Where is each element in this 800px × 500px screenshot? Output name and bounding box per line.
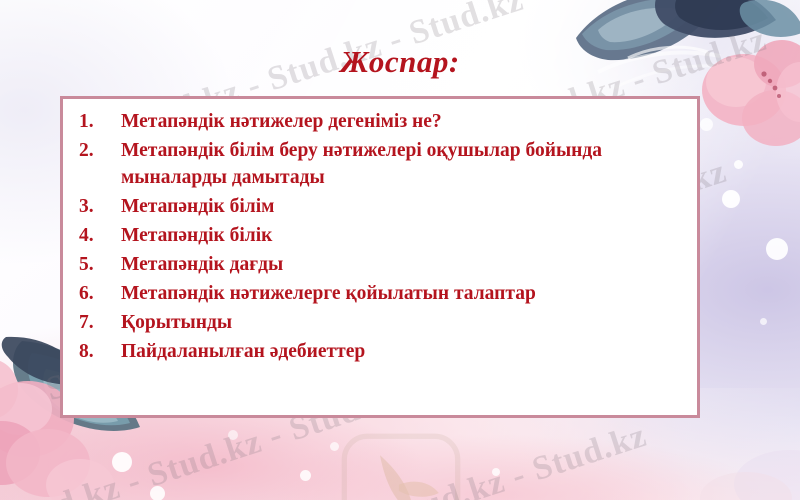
agenda-item-number: 8. xyxy=(75,338,121,365)
agenda-item-text: Метапәндік білім xyxy=(121,193,687,220)
agenda-content-box: 1.Метапәндік нәтижелер дегеніміз не?2.Ме… xyxy=(60,96,700,418)
agenda-item-number: 6. xyxy=(75,280,121,307)
agenda-item-text: Пайдаланылған әдебиеттер xyxy=(121,338,687,365)
agenda-item: 6.Метапәндік нәтижелерге қойылатын талап… xyxy=(75,280,687,307)
agenda-item-text: Метапәндік білік xyxy=(121,222,687,249)
agenda-item-text: Метапәндік дағды xyxy=(121,251,687,278)
agenda-item: 3.Метапәндік білім xyxy=(75,193,687,220)
bokeh-dot xyxy=(700,118,713,131)
agenda-item-number: 7. xyxy=(75,309,121,336)
bokeh-dot xyxy=(722,190,740,208)
agenda-item-text: Метапәндік нәтижелерге қойылатын талапта… xyxy=(121,280,687,307)
slide-canvas: Stud.kz - Stud.kz - Stud.kz - Stud.kz - … xyxy=(0,0,800,500)
agenda-item-text: Метапәндік нәтижелер дегеніміз не? xyxy=(121,108,687,135)
agenda-item: 2.Метапәндік білім беру нәтижелері оқушы… xyxy=(75,137,687,191)
agenda-item: 1.Метапәндік нәтижелер дегеніміз не? xyxy=(75,108,687,135)
agenda-item-text: Қорытынды xyxy=(121,309,687,336)
agenda-item: 4.Метапәндік білік xyxy=(75,222,687,249)
bokeh-dot xyxy=(760,318,767,325)
agenda-item-number: 4. xyxy=(75,222,121,249)
agenda-item-number: 2. xyxy=(75,137,121,164)
agenda-item: 5.Метапәндік дағды xyxy=(75,251,687,278)
agenda-item: 7.Қорытынды xyxy=(75,309,687,336)
bokeh-dot xyxy=(766,238,788,260)
agenda-item: 8.Пайдаланылған әдебиеттер xyxy=(75,338,687,365)
agenda-item-number: 5. xyxy=(75,251,121,278)
agenda-list: 1.Метапәндік нәтижелер дегеніміз не?2.Ме… xyxy=(63,99,697,365)
page-title: Жоспар: xyxy=(0,44,800,80)
bokeh-dot xyxy=(734,160,743,169)
agenda-item-text: Метапәндік білім беру нәтижелері оқушыла… xyxy=(121,137,687,191)
agenda-item-number: 3. xyxy=(75,193,121,220)
agenda-item-number: 1. xyxy=(75,108,121,135)
